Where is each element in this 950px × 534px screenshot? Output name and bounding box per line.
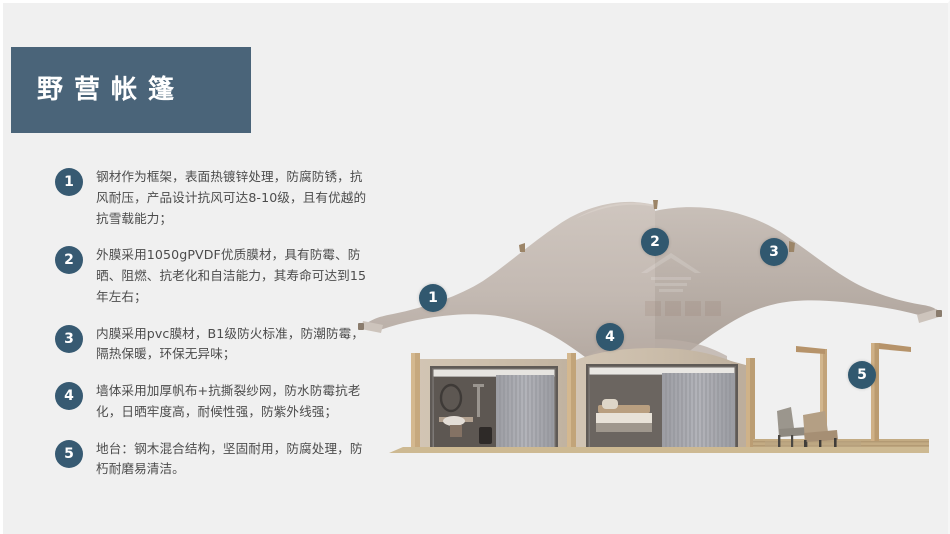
window-bedroom: [587, 365, 737, 451]
feature-text-4: 墙体采用加厚帆布+抗撕裂纱网，防水防霉抗老化，日晒牢度高，耐候性强，防紫外线强；: [96, 381, 373, 423]
hotspot-badge-4[interactable]: 4: [596, 323, 624, 351]
feature-text-1: 钢材作为框架，表面热镀锌处理，防腐防锈，抗风耐压，产品设计抗风可达8-10级，且…: [96, 167, 373, 229]
feature-badge-2: 2: [55, 246, 83, 274]
hotspot-badge-1[interactable]: 1: [419, 284, 447, 312]
window-bathroom: [431, 367, 557, 451]
feature-badge-1: 1: [55, 168, 83, 196]
feature-badge-4: 4: [55, 382, 83, 410]
tent-roof-right: [655, 207, 938, 353]
feature-text-5: 地台：钢木混合结构，坚固耐用，防腐处理，防朽耐磨易清洁。: [96, 439, 373, 481]
page-title: 野营帐篷: [37, 77, 185, 103]
feature-item-5: 5 地台：钢木混合结构，坚固耐用，防腐处理，防朽耐磨易清洁。: [55, 439, 373, 481]
hotspot-badge-5[interactable]: 5: [848, 361, 876, 389]
feature-list: 1 钢材作为框架，表面热镀锌处理，防腐防锈，抗风耐压，产品设计抗风可达8-10级…: [55, 167, 373, 496]
slide-canvas: 野营帐篷 1 钢材作为框架，表面热镀锌处理，防腐防锈，抗风耐压，产品设计抗风可达…: [0, 0, 950, 534]
feature-badge-5: 5: [55, 440, 83, 468]
hotspot-badge-3[interactable]: 3: [760, 238, 788, 266]
feature-text-2: 外膜采用1050gPVDF优质膜材，具有防霉、防晒、阻燃、抗老化和自洁能力，其寿…: [96, 245, 373, 307]
hotspot-badge-2[interactable]: 2: [641, 228, 669, 256]
deck-platform: [389, 447, 929, 453]
feature-text-3: 内膜采用pvc膜材，B1级防火标准，防潮防霉，隔热保暖，环保无异味；: [96, 324, 373, 366]
feature-item-2: 2 外膜采用1050gPVDF优质膜材，具有防霉、防晒、阻燃、抗老化和自洁能力，…: [55, 245, 373, 307]
feature-badge-3: 3: [55, 325, 83, 353]
feature-item-3: 3 内膜采用pvc膜材，B1级防火标准，防潮防霉，隔热保暖，环保无异味；: [55, 324, 373, 366]
page-title-banner: 野营帐篷: [11, 47, 251, 133]
feature-item-1: 1 钢材作为框架，表面热镀锌处理，防腐防锈，抗风耐压，产品设计抗风可达8-10级…: [55, 167, 373, 229]
feature-item-4: 4 墙体采用加厚帆布+抗撕裂纱网，防水防霉抗老化，日晒牢度高，耐候性强，防紫外线…: [55, 381, 373, 423]
